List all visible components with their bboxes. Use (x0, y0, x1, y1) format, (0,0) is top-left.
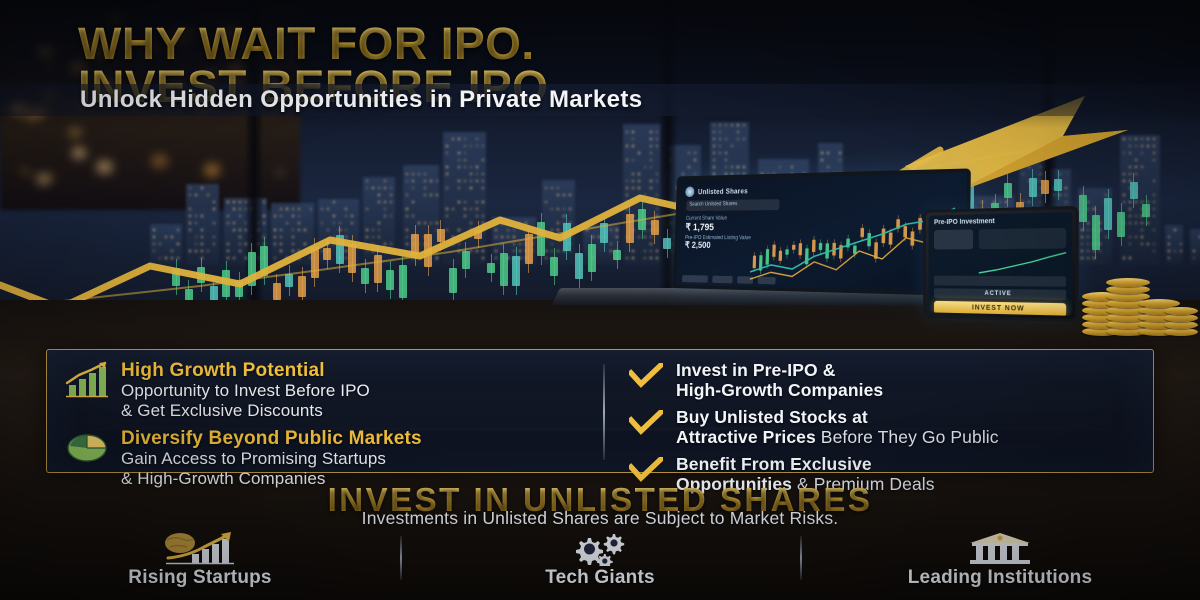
checklist-light-tail: Before They Go Public (816, 427, 999, 447)
dashboard-app-title: Unlisted Shares (698, 187, 748, 196)
tablet-status-badge: ACTIVE (934, 288, 1066, 300)
tablet-app-title: Pre-IPO Investment (934, 218, 995, 226)
app-logo-icon (685, 186, 694, 197)
features-right-column: Invest in Pre-IPO & High-Growth Companie… (603, 350, 1153, 472)
globe-growth-chart-icon (154, 532, 246, 566)
tablet-sparkline (979, 251, 1068, 276)
feature-item: High Growth Potential Opportunity to Inv… (65, 360, 591, 421)
features-panel: High Growth Potential Opportunity to Inv… (46, 349, 1154, 473)
category-item-tech-giants: Tech Giants (400, 532, 800, 589)
footer-chip-portfolio[interactable] (682, 275, 708, 283)
tablet-device: Pre-IPO Investment ACTIVE INVEST NOW (918, 208, 1078, 320)
feature-title: High Growth Potential (121, 360, 591, 381)
stat-2-value: ₹ 2,500 (685, 241, 756, 251)
category-icon-wrap (154, 532, 246, 566)
headline-subtitle: Unlock Hidden Opportunities in Private M… (80, 86, 643, 114)
checklist-bold-line-2: Attractive Prices (676, 427, 816, 447)
checklist-item: Invest in Pre-IPO & High-Growth Companie… (629, 360, 1141, 400)
category-divider (400, 536, 402, 580)
category-label: Leading Institutions (908, 567, 1093, 589)
checklist-text: Buy Unlisted Stocks at Attractive Prices… (676, 407, 999, 447)
footer-chip-tab[interactable] (737, 276, 753, 284)
category-item-leading-institutions: Leading Institutions (800, 532, 1200, 589)
feature-desc-line-1: Opportunity to Invest Before IPO (121, 381, 591, 401)
stat-1-value: ₹ 1,795 (685, 221, 756, 233)
check-icon (629, 410, 663, 436)
bank-building-icon (963, 532, 1037, 566)
tablet-frame: Pre-IPO Investment ACTIVE INVEST NOW (923, 206, 1078, 322)
check-icon (629, 457, 663, 483)
dashboard-stats: Current Share Value ₹ 1,795 Pre-IPO Esti… (685, 216, 757, 251)
category-icon-wrap (564, 532, 636, 566)
dashboard-header: Unlisted Shares (685, 179, 959, 199)
category-label: Rising Startups (128, 567, 271, 589)
checklist-bold-line-2: High-Growth Companies (676, 380, 883, 400)
checklist-bold-line-1: Benefit From Exclusive (676, 454, 872, 474)
gold-coins-stack (1078, 250, 1198, 336)
checklist-text: Invest in Pre-IPO & High-Growth Companie… (676, 360, 883, 400)
feature-desc-line-1: Gain Access to Promising Startups (121, 449, 591, 469)
feature-desc-line-2: & Get Exclusive Discounts (121, 401, 591, 421)
footer-chip-tab[interactable] (758, 276, 776, 284)
tablet-detail-row (934, 276, 1066, 287)
category-row: Rising Startups (0, 532, 1200, 600)
category-icon-wrap (963, 532, 1037, 566)
promo-banner: WHY WAIT FOR IPO. INVEST BEFORE IPO Unlo… (0, 0, 1200, 600)
tablet-screen: Pre-IPO Investment ACTIVE INVEST NOW (929, 212, 1073, 316)
checklist-bold-line-1: Invest in Pre-IPO & (676, 360, 835, 380)
checklist-item: Buy Unlisted Stocks at Attractive Prices… (629, 407, 1141, 447)
laptop-device: Unlisted Shares Search Unlisted Shares C… (560, 168, 980, 328)
feature-title: Diversify Beyond Public Markets (121, 428, 591, 449)
category-item-rising-startups: Rising Startups (0, 532, 400, 589)
check-icon (629, 363, 663, 389)
bar-chart-growth-icon (65, 361, 109, 399)
tablet-info-card (979, 228, 1066, 249)
checklist-bold-line-1: Buy Unlisted Stocks at (676, 407, 868, 427)
gears-icon (564, 532, 636, 566)
headline-line-1: WHY WAIT FOR IPO. (78, 22, 1139, 65)
invest-now-button[interactable]: INVEST NOW (934, 301, 1066, 316)
footer-chip-range[interactable] (712, 275, 732, 283)
cta-disclaimer: Investments in Unlisted Shares are Subje… (0, 508, 1200, 529)
features-left-column: High Growth Potential Opportunity to Inv… (47, 350, 603, 472)
category-divider (800, 536, 802, 580)
category-label: Tech Giants (545, 567, 655, 589)
feature-item: Diversify Beyond Public Markets Gain Acc… (65, 428, 591, 489)
tablet-allotment-card (934, 229, 973, 249)
panel-divider (603, 364, 605, 460)
pie-chart-icon (65, 429, 109, 467)
